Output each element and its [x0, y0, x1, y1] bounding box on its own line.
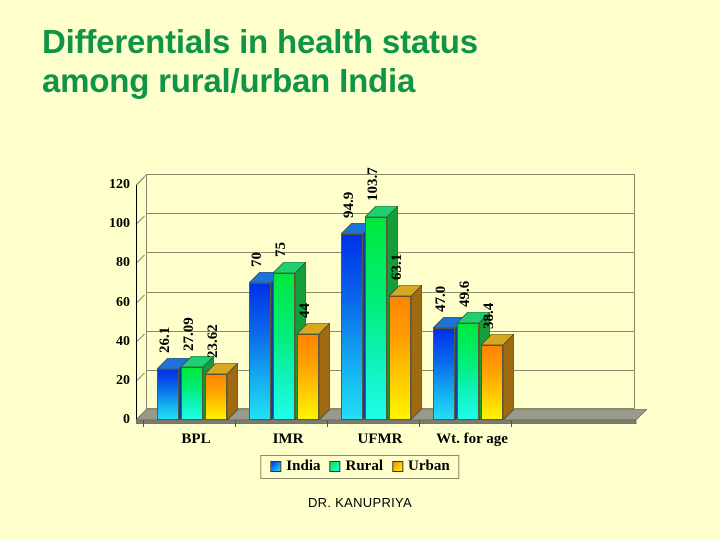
bar-india-wt-for-age[interactable]: 47.0	[433, 328, 455, 420]
bar-value-label: 49.6	[457, 281, 474, 307]
legend-item-urban[interactable]: Urban	[392, 459, 450, 474]
x-category-label: BPL	[181, 431, 210, 448]
x-tick-mark	[511, 420, 512, 427]
x-tick-mark	[419, 420, 420, 427]
bar-value-label: 47.0	[433, 286, 450, 312]
y-tick-mark	[136, 255, 145, 264]
bar-value-label: 44	[297, 303, 314, 318]
bar-front-face	[389, 296, 411, 420]
bar-urban-imr[interactable]: 44	[297, 334, 319, 420]
legend-item-india[interactable]: India	[270, 459, 320, 474]
bar-rural-wt-for-age[interactable]: 49.6	[457, 323, 479, 420]
x-tick-mark	[235, 420, 236, 427]
bar-front-face	[297, 334, 319, 420]
y-tick-mark	[136, 177, 145, 186]
bar-india-ufmr[interactable]: 94.9	[341, 234, 363, 420]
legend-swatch-urban	[392, 461, 403, 472]
bar-value-label: 26.1	[157, 327, 174, 353]
y-tick-label: 40	[116, 334, 130, 350]
legend-swatch-india	[270, 461, 281, 472]
x-tick-mark	[143, 420, 144, 427]
bar-front-face	[481, 345, 503, 420]
y-tick-mark	[136, 216, 145, 225]
bar-india-bpl[interactable]: 26.1	[157, 369, 179, 420]
bar-front-face	[273, 273, 295, 420]
bar-urban-bpl[interactable]: 23.62	[205, 374, 227, 420]
bar-value-label: 94.9	[341, 192, 358, 218]
bar-front-face	[249, 283, 271, 420]
bar-top-face	[365, 206, 398, 218]
chart-legend[interactable]: IndiaRuralUrban	[260, 455, 459, 479]
legend-label-urban: Urban	[408, 459, 450, 474]
bar-front-face	[365, 217, 387, 420]
legend-item-rural[interactable]: Rural	[330, 459, 384, 474]
bar-side-face	[503, 334, 514, 420]
y-tick-label: 100	[109, 216, 130, 232]
bar-top-face	[205, 363, 238, 375]
page-title: Differentials in health status among rur…	[42, 22, 662, 100]
x-tick-mark	[327, 420, 328, 427]
bar-value-label: 75	[273, 242, 290, 257]
bar-front-face	[157, 369, 179, 420]
bar-value-label: 70	[249, 252, 266, 267]
bar-value-label: 63.1	[389, 254, 406, 280]
bar-front-face	[433, 328, 455, 420]
y-tick-mark	[136, 294, 145, 303]
bar-value-label: 103.7	[365, 167, 382, 201]
x-category-label: UFMR	[358, 431, 403, 448]
bar-rural-ufmr[interactable]: 103.7	[365, 217, 387, 420]
y-tick-label: 80	[116, 255, 130, 271]
bar-rural-imr[interactable]: 75	[273, 273, 295, 420]
bar-top-face	[481, 334, 514, 346]
bar-top-face	[273, 262, 306, 274]
legend-swatch-rural	[330, 461, 341, 472]
y-tick-label: 20	[116, 373, 130, 389]
x-category-label: IMR	[273, 431, 304, 448]
bar-front-face	[181, 367, 203, 420]
legend-label-rural: Rural	[346, 459, 384, 474]
bar-side-face	[319, 323, 330, 420]
legend-label-india: India	[286, 459, 320, 474]
bar-top-face	[389, 285, 422, 297]
bar-urban-wt-for-age[interactable]: 38.4	[481, 345, 503, 420]
bar-india-imr[interactable]: 70	[249, 283, 271, 420]
bar-value-label: 38.4	[481, 303, 498, 329]
bar-chart: 020406080100120 BPLIMRUFMRWt. for age 26…	[0, 160, 720, 540]
y-tick-label: 60	[116, 295, 130, 311]
value-axis-line	[136, 185, 137, 420]
footer-credit: DR. KANUPRIYA	[0, 495, 720, 510]
x-category-label: Wt. for age	[436, 431, 508, 448]
y-tick-mark	[136, 333, 145, 342]
bar-front-face	[457, 323, 479, 420]
y-tick-label: 120	[109, 177, 130, 193]
gridline	[146, 174, 635, 175]
bar-top-face	[297, 323, 330, 335]
bar-side-face	[411, 285, 422, 420]
bar-value-label: 27.09	[181, 317, 198, 351]
bar-urban-ufmr[interactable]: 63.1	[389, 296, 411, 420]
y-tick-label: 0	[123, 412, 130, 428]
bar-front-face	[205, 374, 227, 420]
bar-front-face	[341, 234, 363, 420]
bar-rural-bpl[interactable]: 27.09	[181, 367, 203, 420]
y-tick-mark	[136, 372, 145, 381]
bar-value-label: 23.62	[205, 324, 222, 358]
